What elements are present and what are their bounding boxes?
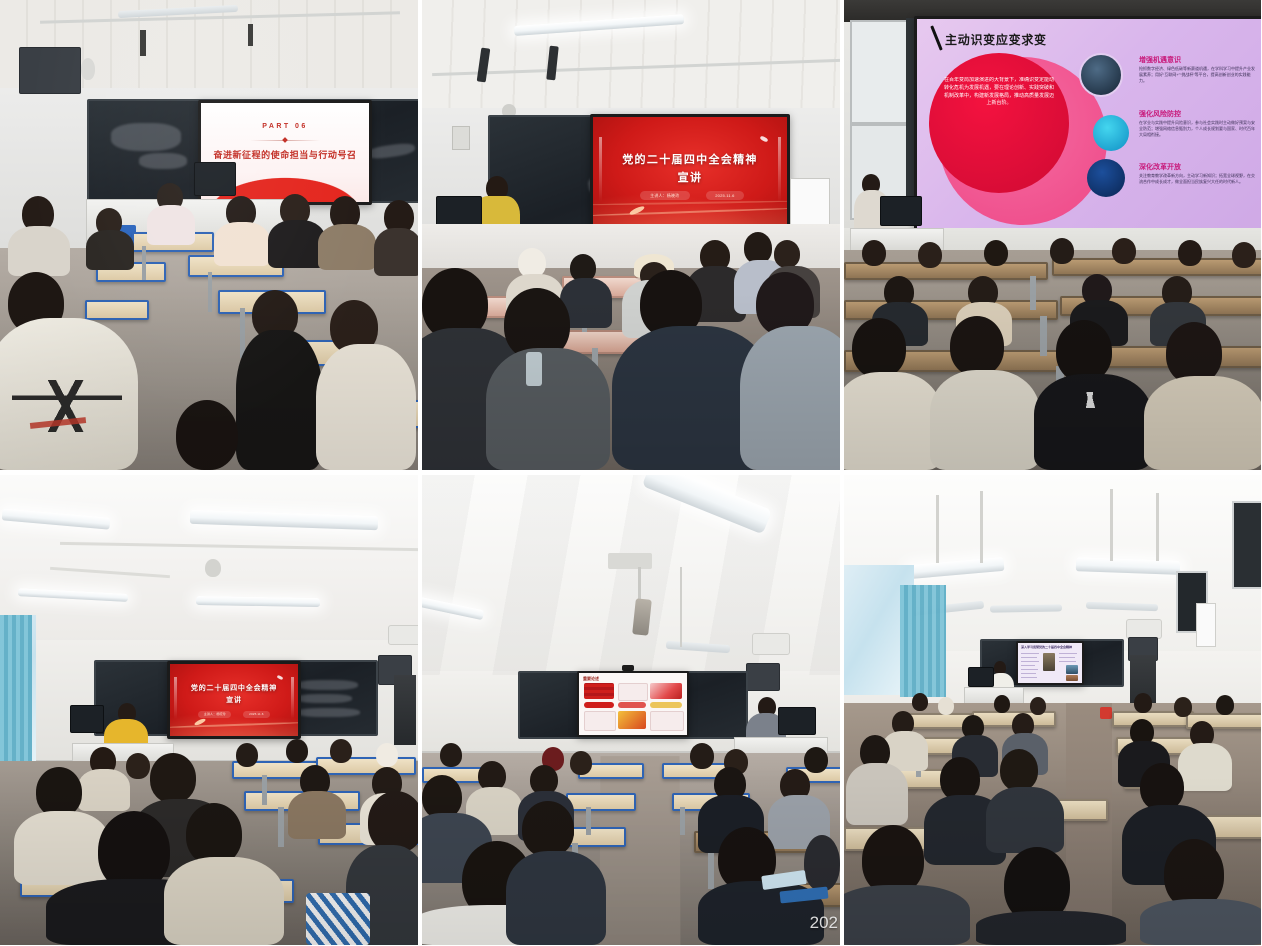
photo-panel-bottom-left: 党的二十届四中全会精神 宣讲 主讲人：杨晓玲 2025.11.6 <box>0 475 418 945</box>
slide-section-heading: 深化改革开放 <box>1139 162 1181 172</box>
student-foreground <box>1140 899 1261 945</box>
slide-title-line2: 宣讲 <box>601 170 780 187</box>
slide-date-pill: 2025.11.6 <box>706 191 745 200</box>
window-curtain <box>900 585 946 697</box>
water-bottle <box>526 352 542 386</box>
air-conditioner <box>388 625 418 645</box>
student <box>288 791 346 839</box>
student <box>984 240 1008 266</box>
ceiling-light <box>990 604 1062 612</box>
classroom-scene: 深入学习贯彻党的二十届四中全会精神 <box>844 475 1261 945</box>
student-foreground <box>846 763 908 825</box>
student-foreground <box>368 791 418 853</box>
slide-title: 重要论述 <box>583 676 599 682</box>
slide-red-title: 党的二十届四中全会精神 宣讲 主讲人：杨晓玲 2025.11.6 <box>593 117 787 229</box>
light-hanger <box>936 495 939 563</box>
student-foreground <box>150 753 196 803</box>
hanging-bracket <box>140 30 146 56</box>
student <box>214 222 270 266</box>
student <box>1232 242 1256 268</box>
wall-switch <box>452 126 470 150</box>
student-foreground <box>506 851 606 945</box>
student-foreground <box>316 344 416 470</box>
student <box>1178 240 1202 266</box>
slide-photo <box>1066 665 1078 674</box>
student-desk <box>85 300 149 320</box>
patterned-bag <box>306 893 370 945</box>
presentation-screen: 重要论述 <box>577 671 689 737</box>
student-foreground <box>1000 749 1038 791</box>
slide-photo <box>1043 653 1055 671</box>
student-foreground <box>1140 763 1184 811</box>
student <box>330 739 352 763</box>
slide-section-body: 关注教育教学改革新方向，主动学习新知识；拓宽全球视野，在交流合作中成长成才，做全… <box>1139 173 1257 201</box>
student <box>147 205 195 245</box>
wall-poster <box>1196 603 1216 647</box>
student-foreground <box>36 767 82 817</box>
ceiling-camera-icon <box>81 58 95 80</box>
student <box>126 753 150 779</box>
wall-speaker <box>19 47 81 94</box>
light-hanger <box>1110 489 1113 561</box>
door <box>394 675 416 745</box>
ceiling-camera-icon <box>205 559 221 577</box>
student <box>774 240 800 268</box>
student <box>376 743 398 767</box>
slide-heading: 奋进新征程的使命担当与行动号召 <box>206 148 364 161</box>
student-foreground <box>486 348 610 470</box>
hanging-bracket <box>248 24 253 46</box>
projector-mount <box>638 567 641 601</box>
slide-title-line1: 党的二十届四中全会精神 <box>175 684 293 695</box>
teacher-monitor <box>880 196 922 226</box>
student-foreground <box>236 330 322 470</box>
student-desk <box>316 757 416 775</box>
presentation-screen: 深入学习贯彻党的二十届四中全会精神 <box>1016 641 1084 685</box>
student <box>318 224 376 270</box>
student-foreground <box>844 885 970 945</box>
student-foreground <box>844 372 942 470</box>
whiteboard <box>850 20 908 124</box>
classroom-scene: 重要论述 <box>422 475 840 945</box>
bench-desk <box>1052 258 1261 276</box>
slide-date-pill: 2025.11.6 <box>243 711 270 718</box>
student-foreground <box>176 400 238 470</box>
presentation-screen: 党的二十届四中全会精神 宣讲 主讲人：杨晓玲 2025.11.6 <box>590 114 790 232</box>
slide-title-line2: 宣讲 <box>175 696 293 707</box>
photo-watermark: 202 <box>810 913 838 933</box>
student <box>78 769 130 811</box>
slide-part-label: PART 06 <box>201 123 369 130</box>
wall-speaker <box>746 663 780 691</box>
slide-section-heading: 增强机遇意识 <box>1139 55 1181 65</box>
slide-flag-decor <box>276 674 283 679</box>
photo-collage: PART 06 奋进新征程的使命担当与行动号召 <box>0 0 1262 946</box>
slide-title: 主动识变应变求变 <box>945 31 1047 48</box>
slide-section-body: 抢抓数字经济、绿色低碳等新赛道机遇，在学科学习中提升产业发展素养；用好“互联网+… <box>1139 66 1257 94</box>
student <box>804 747 828 773</box>
student <box>236 743 258 767</box>
student-foreground <box>986 787 1064 853</box>
student-foreground <box>930 370 1040 470</box>
teacher-monitor <box>968 667 994 687</box>
student <box>918 242 942 268</box>
student-foreground <box>1166 322 1222 384</box>
student <box>1112 238 1136 264</box>
teacher-monitor <box>194 162 236 196</box>
student <box>994 695 1010 713</box>
student-foreground <box>164 857 284 945</box>
student <box>374 228 418 276</box>
centre-aisle <box>1066 703 1112 945</box>
student <box>1030 697 1046 715</box>
light-hanger <box>980 491 983 563</box>
air-conditioner <box>752 633 790 655</box>
slide-section-body: 在学业与实践中提升风险意识，参与社会实践时主动做好预案与安全防范；增强网络信息甄… <box>1139 120 1257 148</box>
student-desk <box>566 793 636 811</box>
student-foreground <box>186 803 242 865</box>
slide-purple-content: 主动识变应变求变 在百年变局加速演进的大背景下，准确识变定能动转化危机为发展机遇… <box>917 19 1261 231</box>
photo-panel-top-right: 主动识变应变求变 在百年变局加速演进的大背景下，准确识变定能动转化危机为发展机遇… <box>844 0 1261 470</box>
waste-bin <box>1100 707 1112 719</box>
slide-title: 深入学习贯彻党的二十届四中全会精神 <box>1021 645 1079 649</box>
window-curtain <box>0 615 32 775</box>
student-foreground <box>976 911 1126 945</box>
slide-light-content: 重要论述 <box>579 673 687 735</box>
student <box>1178 743 1232 791</box>
student-foreground <box>14 811 110 885</box>
student <box>912 693 928 711</box>
student <box>690 743 714 769</box>
hanging-rod <box>680 567 682 647</box>
photo-panel-bottom-center: 重要论述 <box>422 475 840 945</box>
light-hanger <box>1156 493 1159 561</box>
projector <box>608 553 652 569</box>
presentation-screen: 主动识变应变求变 在百年变局加速演进的大背景下，准确识变定能动转化危机为发展机遇… <box>914 16 1261 234</box>
student <box>862 240 886 266</box>
student <box>1134 693 1152 713</box>
student <box>286 739 308 763</box>
slide-red-title: 党的二十届四中全会精神 宣讲 主讲人：杨晓玲 2025.11.6 <box>170 664 298 736</box>
photo-panel-bottom-right: 深入学习贯彻党的二十届四中全会精神 <box>844 475 1261 945</box>
student-foreground <box>1056 320 1112 382</box>
teacher-monitor <box>70 705 104 733</box>
student-foreground <box>1034 374 1152 470</box>
slide-photo <box>1066 675 1078 681</box>
student-foreground <box>950 316 1004 376</box>
student-foreground <box>522 801 574 857</box>
classroom-scene: PART 06 奋进新征程的使命担当与行动号召 <box>0 0 418 470</box>
slide-title-line1: 党的二十届四中全会精神 <box>601 152 780 169</box>
slide-section-heading: 强化风险防控 <box>1139 109 1181 119</box>
student <box>8 226 70 276</box>
teacher-monitor <box>778 707 816 735</box>
student-foreground <box>852 318 906 378</box>
jacket-logo <box>1066 392 1120 408</box>
slide-flag-decor <box>759 136 768 143</box>
slide-lavender-text: 深入学习贯彻党的二十届四中全会精神 <box>1018 643 1082 683</box>
notice-board <box>1232 501 1261 589</box>
slide-speaker-pill: 主讲人：杨晓玲 <box>198 711 231 718</box>
classroom-scene: 党的二十届四中全会精神 宣讲 主讲人：杨晓玲 2025.11.6 <box>422 0 840 470</box>
presentation-screen: 党的二十届四中全会精神 宣讲 主讲人：杨晓玲 2025.11.6 <box>167 661 301 739</box>
wall-poster <box>790 178 830 228</box>
student <box>1050 238 1074 264</box>
centre-aisle <box>600 756 681 945</box>
photo-panel-top-center: 党的二十届四中全会精神 宣讲 主讲人：杨晓玲 2025.11.6 <box>422 0 840 470</box>
student-foreground <box>1144 376 1261 470</box>
student <box>570 751 592 775</box>
classroom-scene: 主动识变应变求变 在百年变局加速演进的大背景下，准确识变定能动转化危机为发展机遇… <box>844 0 1261 470</box>
slide-callout-text: 在百年变局加速演进的大背景下，准确识变定能动转化危机为发展机遇，要在理论创新、实… <box>943 77 1055 173</box>
slide-speaker-pill: 主讲人：杨晓玲 <box>640 191 690 200</box>
student <box>86 230 134 270</box>
student <box>1174 697 1192 717</box>
student-foreground <box>740 326 840 470</box>
student <box>938 697 954 715</box>
student <box>1216 695 1234 715</box>
student-foreground <box>804 835 840 891</box>
photo-panel-top-left: PART 06 奋进新征程的使命担当与行动号召 <box>0 0 418 470</box>
air-conditioner <box>1126 619 1162 639</box>
classroom-scene: 党的二十届四中全会精神 宣讲 主讲人：杨晓玲 2025.11.6 <box>0 475 418 945</box>
student <box>440 743 462 767</box>
